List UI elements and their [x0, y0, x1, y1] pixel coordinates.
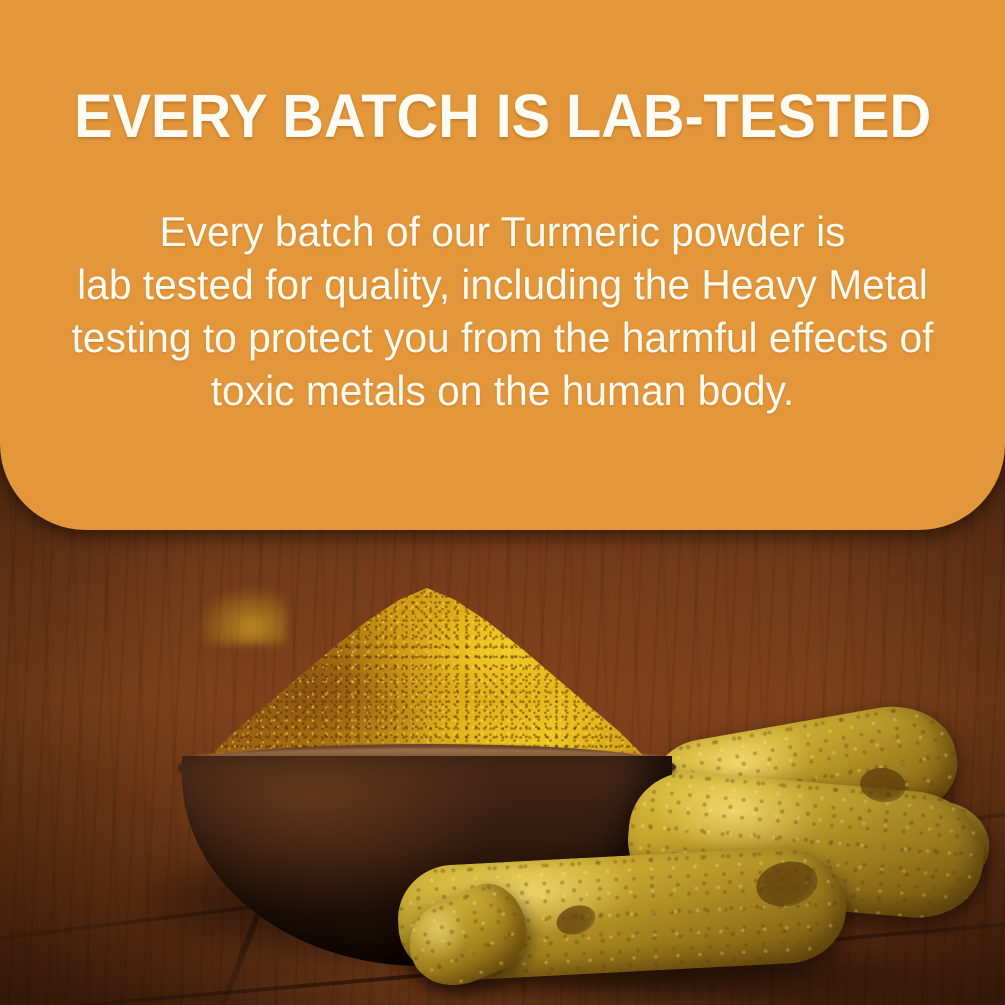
page-title: EVERY BATCH IS LAB-TESTED	[25, 0, 980, 147]
description-line-4: toxic metals on the human body.	[40, 364, 964, 417]
orange-callout-panel: EVERY BATCH IS LAB-TESTED Every batch of…	[0, 0, 1005, 530]
panel-content: EVERY BATCH IS LAB-TESTED Every batch of…	[0, 0, 1005, 417]
product-infographic: EVERY BATCH IS LAB-TESTED Every batch of…	[0, 0, 1005, 1005]
description-line-1: Every batch of our Turmeric powder is	[40, 205, 964, 258]
description-line-2: lab tested for quality, including the He…	[40, 258, 964, 311]
description-text: Every batch of our Turmeric powder is la…	[0, 147, 1005, 417]
description-line-3: testing to protect you from the harmful …	[40, 311, 964, 364]
